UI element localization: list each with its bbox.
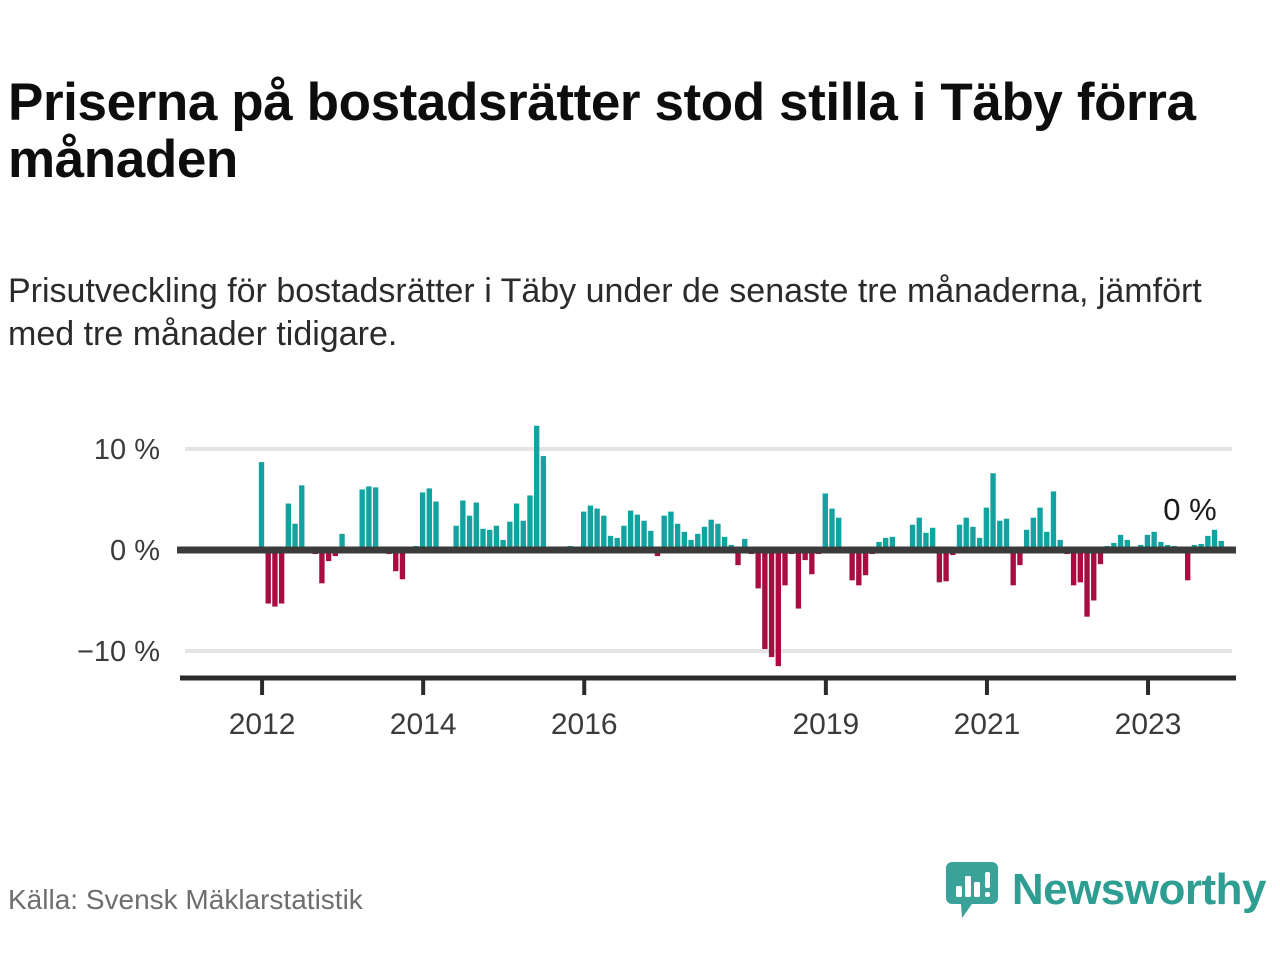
bar — [628, 511, 633, 550]
bar — [715, 524, 720, 550]
bar — [1031, 518, 1036, 550]
annotation-value-label: 0 % — [1163, 492, 1216, 527]
bar — [836, 518, 841, 550]
bar — [1078, 550, 1083, 582]
bar — [668, 512, 673, 550]
bar — [641, 521, 646, 550]
x-axis-tick-label: 2019 — [792, 708, 859, 741]
x-axis: 201220142016201920212023 — [180, 678, 1236, 741]
price-development-bar-chart: 10 %0 %−10 % 201220142016201920212023 0 … — [0, 400, 1280, 760]
bar — [494, 526, 499, 550]
bar — [621, 526, 626, 550]
x-axis-tick-label: 2021 — [954, 708, 1021, 741]
bar — [910, 525, 915, 550]
bar — [917, 518, 922, 550]
bar — [521, 521, 526, 550]
bar — [292, 524, 297, 550]
bar — [1011, 550, 1016, 585]
bar — [266, 550, 271, 604]
y-axis-tick-label: 10 % — [94, 434, 160, 466]
bar — [594, 509, 599, 550]
bar — [675, 524, 680, 550]
bar — [863, 550, 868, 575]
newsworthy-logo: Newsworthy — [946, 862, 1266, 918]
bar — [527, 495, 532, 550]
bar — [534, 426, 539, 550]
bar — [829, 509, 834, 550]
x-axis-tick-label: 2016 — [551, 708, 618, 741]
bar — [943, 550, 948, 581]
bar — [762, 550, 767, 649]
bar — [319, 550, 324, 583]
bar — [514, 504, 519, 550]
bar — [776, 550, 781, 666]
bar — [286, 504, 291, 550]
bar — [796, 550, 801, 609]
chart-canvas: 10 %0 %−10 % 201220142016201920212023 0 … — [0, 400, 1280, 760]
x-axis-tick-label: 2014 — [390, 708, 457, 741]
bar — [433, 502, 438, 550]
newsworthy-chart-card: Priserna på bostadsrätter stod stilla i … — [0, 0, 1280, 960]
bar — [990, 473, 995, 550]
bar — [1071, 550, 1076, 585]
brand-name: Newsworthy — [1012, 868, 1266, 912]
page-subtitle: Prisutveckling för bostadsrätter i Täby … — [8, 270, 1243, 356]
bar — [755, 550, 760, 588]
y-axis-tick-label: −10 % — [77, 636, 160, 668]
x-axis-tick-label: 2023 — [1115, 708, 1182, 741]
bar — [709, 520, 714, 550]
bar — [856, 550, 861, 585]
bar — [1004, 519, 1009, 550]
bar — [581, 512, 586, 550]
bar — [588, 506, 593, 550]
bar — [427, 488, 432, 550]
page-title: Priserna på bostadsrätter stod stilla i … — [8, 74, 1258, 188]
bar — [635, 515, 640, 550]
bar — [601, 516, 606, 550]
bar — [420, 492, 425, 550]
bar — [823, 493, 828, 550]
bar — [366, 486, 371, 550]
bar — [1185, 550, 1190, 580]
bar — [460, 501, 465, 550]
bar — [1051, 491, 1056, 550]
bar — [984, 508, 989, 550]
bar — [1084, 550, 1089, 617]
source-note: Källa: Svensk Mäklarstatistik — [8, 884, 363, 916]
bar — [964, 518, 969, 550]
bar — [453, 526, 458, 550]
y-axis-tick-label: 0 % — [110, 535, 160, 567]
bar — [467, 516, 472, 550]
bar — [1091, 550, 1096, 601]
bar — [937, 550, 942, 582]
bar — [809, 550, 814, 574]
bar — [400, 550, 405, 579]
bar — [541, 456, 546, 550]
bar — [272, 550, 277, 607]
bar — [769, 550, 774, 657]
bar — [360, 489, 365, 550]
bar — [373, 487, 378, 550]
bar — [849, 550, 854, 580]
bar — [957, 525, 962, 550]
bar-series — [185, 426, 1231, 666]
bar — [1037, 508, 1042, 550]
bar — [279, 550, 284, 604]
bar — [997, 521, 1002, 550]
bar-chart-speech-bubble-icon — [946, 862, 998, 918]
last-value-annotation: 0 % — [1163, 492, 1216, 527]
bar — [299, 485, 304, 550]
x-axis-tick-label: 2012 — [229, 708, 296, 741]
bar — [259, 462, 264, 550]
bar — [507, 522, 512, 550]
bar — [782, 550, 787, 585]
bar — [474, 503, 479, 550]
bar — [662, 516, 667, 550]
y-axis-labels: 10 %0 %−10 % — [77, 434, 160, 668]
